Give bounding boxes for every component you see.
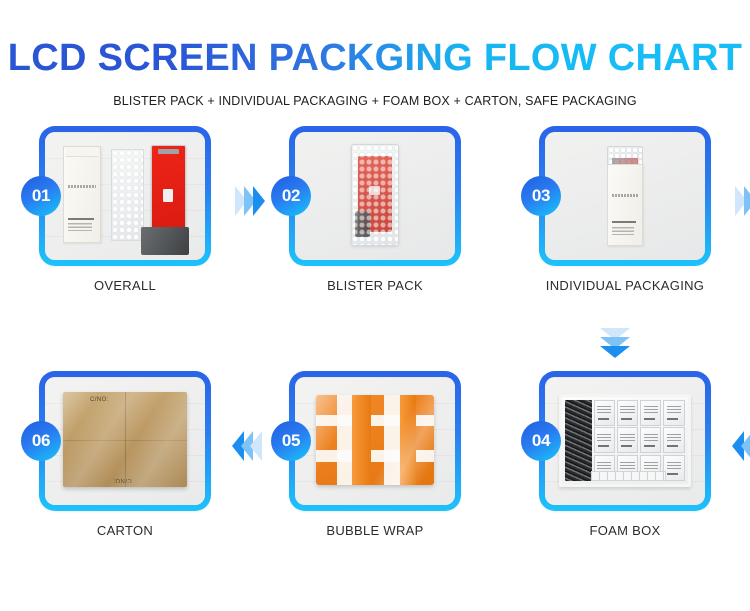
arrow-left-icon <box>218 423 278 469</box>
step-badge: 01 <box>21 176 61 216</box>
arrow-left-icon <box>718 423 750 469</box>
step-photo-bubble-wrap <box>295 377 455 505</box>
step-frame: C/NO: C/NO: 06 <box>39 371 211 511</box>
cable-bundle-graphic <box>565 400 591 481</box>
step-badge: 06 <box>21 421 61 461</box>
boxed-screens-grid <box>594 400 685 481</box>
retail-box-graphic <box>63 146 101 243</box>
step-card[interactable]: 01 OVERALL <box>0 126 250 293</box>
step-badge: 03 <box>521 176 561 216</box>
flow-step-06[interactable]: C/NO: C/NO: 06 CARTON <box>0 371 250 551</box>
step-frame: 04 <box>539 371 711 511</box>
arrow-right-icon <box>718 178 750 224</box>
step-photo-carton: C/NO: C/NO: <box>45 377 205 505</box>
arrow-right-icon <box>218 178 278 224</box>
boxed-screen <box>594 400 616 426</box>
step-caption: BLISTER PACK <box>250 278 500 293</box>
step-frame: 05 <box>289 371 461 511</box>
step-card[interactable]: C/NO: C/NO: 06 CARTON <box>0 371 250 538</box>
chevron-left-icon <box>250 431 262 461</box>
shrink-wrap-gloss <box>63 392 188 487</box>
flow-row-top: 01 OVERALL <box>0 126 750 306</box>
orange-taped-box-graphic <box>316 395 434 485</box>
page-title: LCD SCREEN PACKGING FLOW CHART <box>0 36 750 80</box>
chevron-right-icon <box>744 186 750 216</box>
step-badge: 04 <box>521 421 561 461</box>
foam-box-graphic <box>559 394 690 487</box>
flow-step-01[interactable]: 01 OVERALL <box>0 126 250 306</box>
chevron-down-icon <box>600 346 630 358</box>
tape-gloss <box>316 395 434 485</box>
step-photo-foam-box <box>545 377 705 505</box>
boxed-screen <box>594 427 616 453</box>
step-card[interactable]: 05 BUBBLE WRAP <box>250 371 500 538</box>
box-text-line-2 <box>612 221 636 224</box>
step-card[interactable]: 02 BLISTER PACK <box>250 126 500 293</box>
flow-step-03[interactable]: 03 INDIVIDUAL PACKAGING <box>500 126 750 306</box>
step-caption: CARTON <box>0 523 250 538</box>
box-text-line-1 <box>612 194 637 197</box>
boxed-screen <box>617 400 639 426</box>
step-caption: INDIVIDUAL PACKAGING <box>500 278 750 293</box>
page-subtitle: BLISTER PACK + INDIVIDUAL PACKAGING + FO… <box>0 94 750 108</box>
bubble-wrapped-screen-graphic <box>351 144 399 246</box>
box-text-block <box>612 227 634 235</box>
boxed-screen <box>617 427 639 453</box>
step-caption: FOAM BOX <box>500 523 750 538</box>
bubble-wrap-sheet-graphic <box>111 149 145 241</box>
boxed-screen <box>640 427 662 453</box>
step-frame: 02 <box>289 126 461 266</box>
step-badge: 05 <box>271 421 311 461</box>
step-photo-individual-packaging <box>545 132 705 260</box>
box-text-line-1 <box>68 185 96 188</box>
foam-box-contents <box>565 400 684 481</box>
boxed-screen <box>663 427 685 453</box>
page-header: LCD SCREEN PACKGING FLOW CHART BLISTER P… <box>0 0 750 108</box>
arrow-down-icon <box>592 311 638 371</box>
step-card[interactable]: 04 FOAM BOX <box>500 371 750 538</box>
flow-step-02[interactable]: 02 BLISTER PACK <box>250 126 500 306</box>
boxed-screen <box>663 400 685 426</box>
step-card[interactable]: 03 INDIVIDUAL PACKAGING <box>500 126 750 293</box>
cardboard-carton-graphic: C/NO: C/NO: <box>63 392 188 487</box>
foam-divider-strip <box>591 471 666 481</box>
flex-cable-graphic <box>355 211 371 237</box>
step-caption: OVERALL <box>0 278 250 293</box>
flow-row-bottom: C/NO: C/NO: 06 CARTON <box>0 371 750 551</box>
box-text-block <box>68 223 92 231</box>
step-photo-overall <box>45 132 205 260</box>
step-frame: 01 <box>39 126 211 266</box>
flow-step-04[interactable]: 04 FOAM BOX <box>500 371 750 551</box>
box-text-line-2 <box>68 218 94 221</box>
step-frame: 03 <box>539 126 711 266</box>
boxed-screen <box>640 400 662 426</box>
step-photo-blister-pack <box>295 132 455 260</box>
flex-cable-graphic <box>141 227 189 255</box>
retail-box-graphic <box>607 164 642 246</box>
step-badge: 02 <box>271 176 311 216</box>
flow-step-05[interactable]: 05 BUBBLE WRAP <box>250 371 500 551</box>
chevron-right-icon <box>253 186 265 216</box>
step-caption: BUBBLE WRAP <box>250 523 500 538</box>
flow-chart: 01 OVERALL <box>0 126 750 546</box>
